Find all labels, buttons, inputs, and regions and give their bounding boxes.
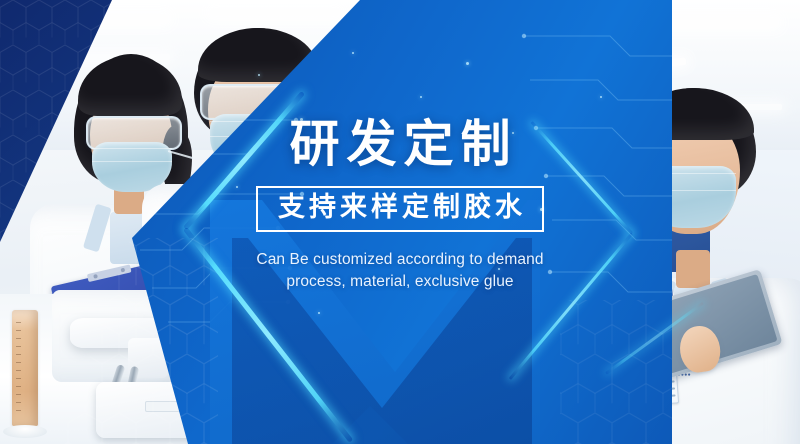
banner-text-block: 研发定制 支持来样定制胶水 Can Be customized accordin… bbox=[232, 118, 568, 293]
english-tagline-line1: Can Be customized according to demand bbox=[232, 249, 568, 271]
subtitle-text: 支持来样定制胶水 bbox=[274, 193, 526, 223]
cyan-beam-accent bbox=[605, 302, 704, 375]
promo-banner: ●●●●● bbox=[0, 0, 800, 444]
english-tagline-line2: process, material, exclusive glue bbox=[232, 271, 568, 293]
subtitle-box: 支持来样定制胶水 bbox=[256, 186, 544, 232]
english-tagline: Can Be customized according to demand pr… bbox=[232, 249, 568, 293]
page-title: 研发定制 bbox=[232, 118, 568, 171]
